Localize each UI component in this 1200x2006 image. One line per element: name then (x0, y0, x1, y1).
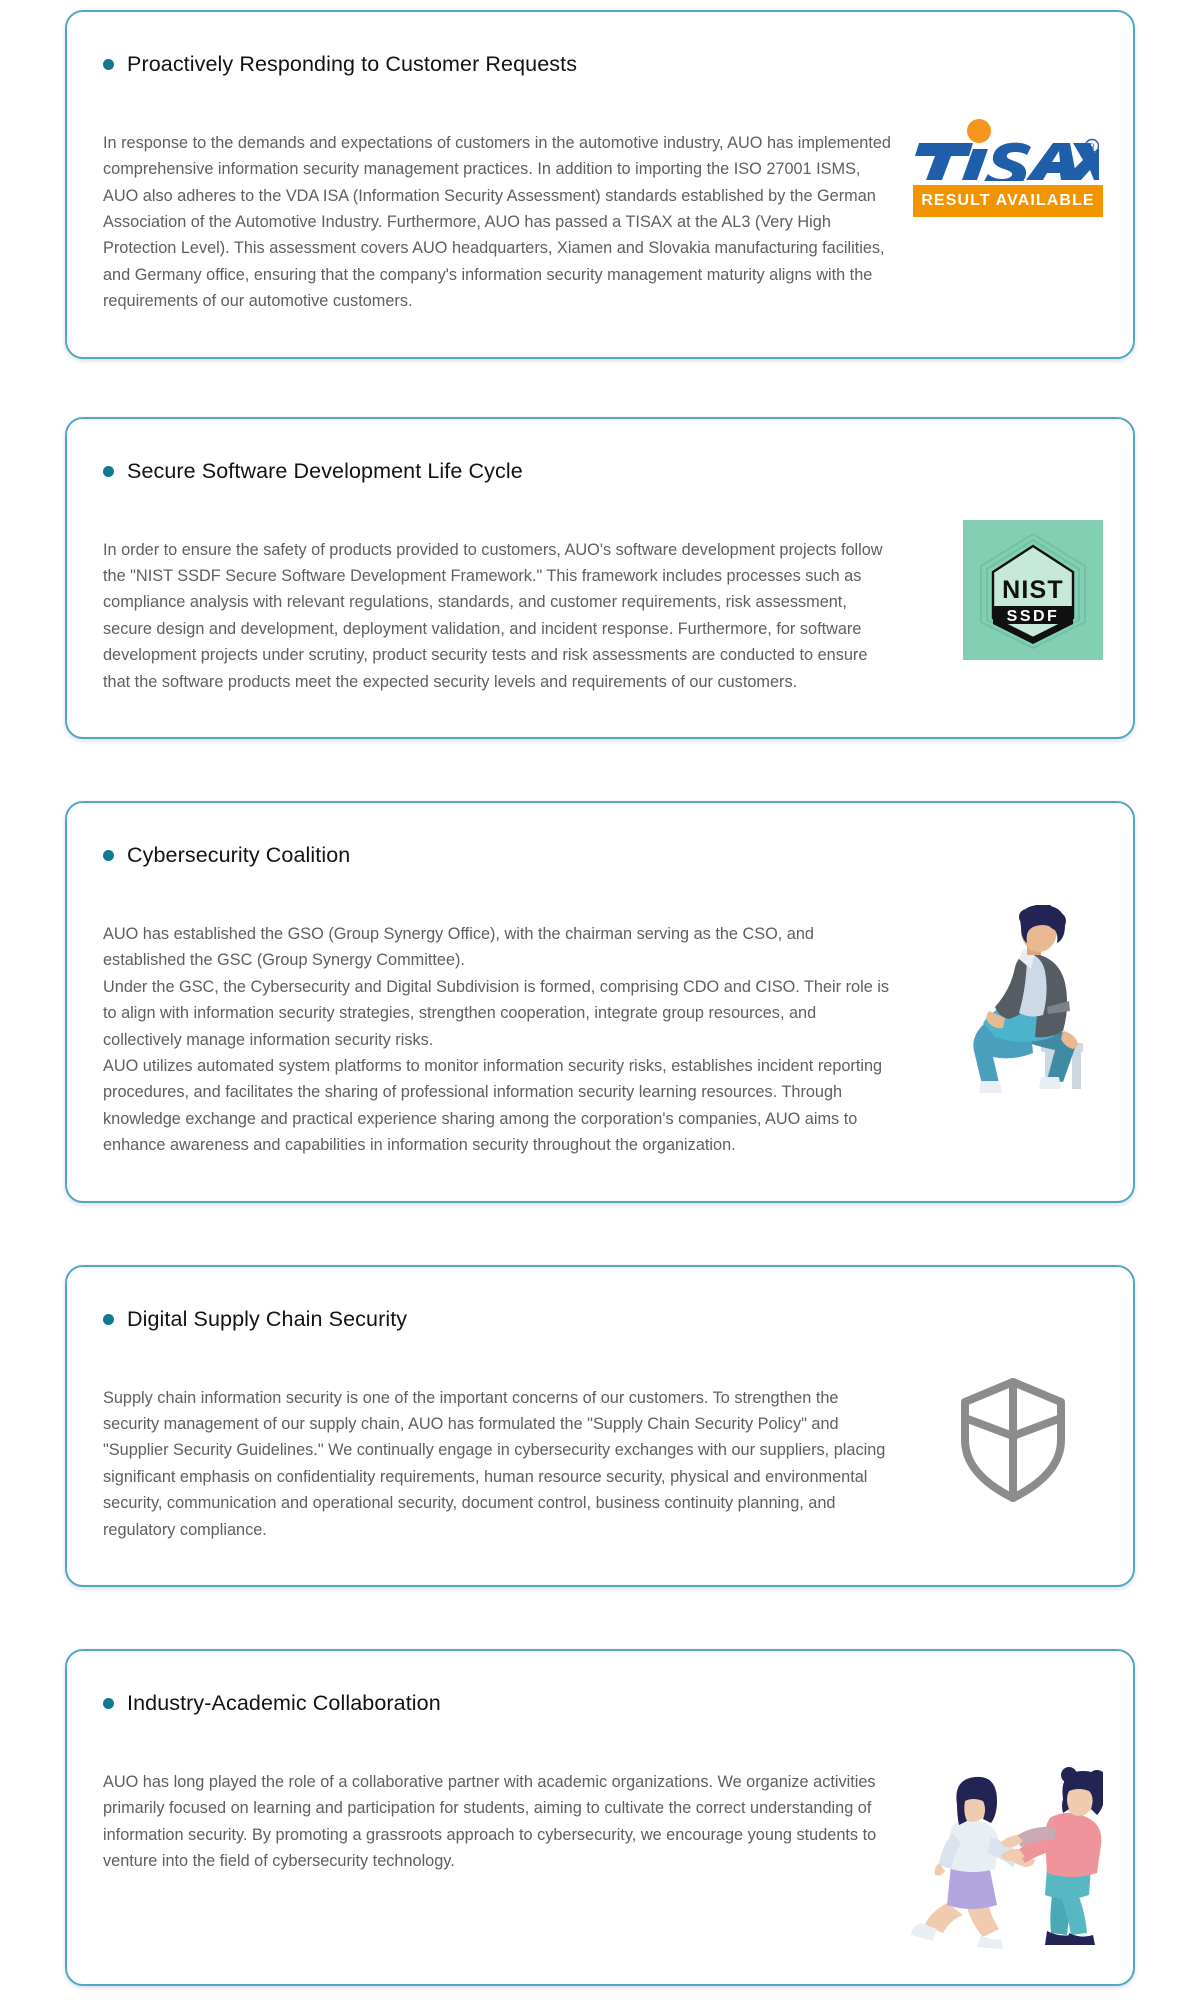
security-practices-page: Proactively Responding to Customer Reque… (0, 0, 1200, 1986)
nist-badge-top-label: NIST (1002, 576, 1064, 604)
bullet-icon (103, 59, 114, 70)
section-media (953, 1368, 1103, 1511)
tisax-logo: R RESULT AVAILABLE (913, 113, 1103, 217)
shield-icon (953, 1368, 1103, 1511)
card-body: AUO has established the GSO (Group Syner… (97, 905, 1103, 1175)
bullet-icon (103, 1698, 114, 1709)
section-card-digital-supply-chain: Digital Supply Chain Security Supply cha… (65, 1265, 1135, 1587)
section-body-text: Supply chain information security is one… (97, 1385, 892, 1543)
card-body: In order to ensure the safety of product… (97, 520, 1103, 711)
section-media: R RESULT AVAILABLE (913, 113, 1103, 217)
card-body: In response to the demands and expectati… (97, 113, 1103, 330)
section-title: Industry-Academic Collaboration (127, 1691, 441, 1717)
section-media: NIST SSDF (963, 520, 1103, 660)
card-header: Digital Supply Chain Security (97, 1289, 1103, 1350)
card-header: Proactively Responding to Customer Reque… (97, 34, 1103, 95)
tisax-result-banner: RESULT AVAILABLE (913, 185, 1103, 217)
card-header: Cybersecurity Coalition (97, 825, 1103, 886)
bullet-icon (103, 466, 114, 477)
section-card-cybersecurity-coalition: Cybersecurity Coalition AUO has establis… (65, 801, 1135, 1203)
section-card-proactively-responding: Proactively Responding to Customer Reque… (65, 10, 1135, 359)
svg-text:R: R (1089, 143, 1095, 152)
card-body: Supply chain information security is one… (97, 1368, 1103, 1559)
section-card-secure-sdlc: Secure Software Development Life Cycle I… (65, 417, 1135, 739)
nist-badge-bottom-label: SSDF (1007, 608, 1060, 625)
card-header: Industry-Academic Collaboration (97, 1673, 1103, 1734)
card-body: AUO has long played the role of a collab… (97, 1753, 1103, 1958)
card-header: Secure Software Development Life Cycle (97, 441, 1103, 502)
section-body-text: In order to ensure the safety of product… (97, 537, 892, 695)
section-title: Digital Supply Chain Security (127, 1307, 407, 1333)
section-media (923, 905, 1103, 1100)
section-media (903, 1753, 1103, 1958)
seated-person-illustration-icon (923, 905, 1103, 1100)
bullet-icon (103, 850, 114, 861)
section-title: Cybersecurity Coalition (127, 843, 350, 869)
section-body-text: AUO has long played the role of a collab… (97, 1769, 892, 1875)
section-body-text: In response to the demands and expectati… (97, 130, 892, 315)
two-people-illustration-icon (903, 1753, 1103, 1958)
nist-ssdf-badge-icon: NIST SSDF (963, 520, 1103, 660)
section-card-industry-academic: Industry-Academic Collaboration AUO has … (65, 1649, 1135, 1985)
bullet-icon (103, 1314, 114, 1325)
section-title: Secure Software Development Life Cycle (127, 459, 523, 485)
tisax-wordmark-icon: R (913, 119, 1103, 181)
section-title: Proactively Responding to Customer Reque… (127, 52, 577, 78)
section-body-text: AUO has established the GSO (Group Syner… (97, 921, 892, 1159)
